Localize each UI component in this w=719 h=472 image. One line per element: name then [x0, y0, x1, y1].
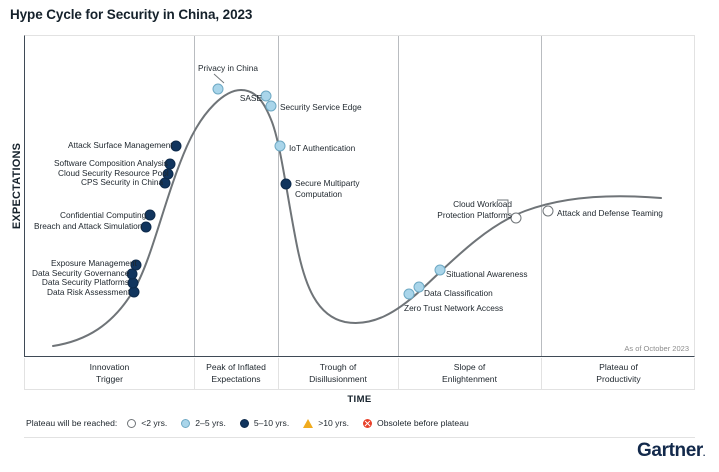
gartner-logo: Gartner. — [637, 440, 705, 462]
light-blue-circle-icon — [181, 419, 190, 428]
open-circle-icon — [127, 419, 136, 428]
data-point-label: Attack and Defense Teaming — [557, 208, 663, 219]
legend-label-5to10: 5–10 yrs. — [254, 418, 289, 428]
dark-blue-circle-icon — [240, 419, 249, 428]
data-point-label: CPS Security in China — [81, 177, 161, 188]
phase-label-line2: Trigger — [25, 374, 194, 386]
phase-label-line1: Plateau of — [541, 362, 696, 374]
phase-label-line2: Productivity — [541, 374, 696, 386]
data-point[interactable] — [213, 84, 224, 95]
phase-label-line1: Peak of Inflated — [194, 362, 278, 374]
phase-label-1: InnovationTrigger — [25, 362, 194, 385]
data-point-label: Confidential Computing — [60, 210, 146, 221]
data-point-label: IoT Authentication — [289, 143, 355, 154]
phase-label-4: Slope ofEnlightenment — [398, 362, 541, 385]
data-point-label: Zero Trust Network Access — [404, 303, 405, 314]
data-point-label: Cloud Workload Protection Platforms — [427, 199, 512, 220]
data-point-label: SASE — [233, 93, 262, 104]
data-point[interactable] — [414, 282, 425, 293]
phase-label-line2: Disillusionment — [278, 374, 398, 386]
phase-label-line1: Slope of — [398, 362, 541, 374]
legend-label-obsolete: Obsolete before plateau — [377, 418, 469, 428]
data-point-label: Data Security Platforms — [36, 277, 129, 288]
data-point-label: Exposure Management — [51, 258, 132, 269]
phase-label-3: Trough ofDisillusionment — [278, 362, 398, 385]
data-point-label: Privacy in China — [198, 63, 258, 74]
data-point-label: Attack Surface Management — [68, 140, 172, 151]
data-point[interactable] — [141, 222, 152, 233]
legend-label-gt10: >10 yrs. — [318, 418, 349, 428]
data-point-label: Cloud Security Resource Pool — [58, 168, 164, 179]
data-point[interactable] — [266, 101, 277, 112]
data-point-label: Software Composition Analysis — [54, 158, 166, 169]
legend-item-obsolete[interactable]: Obsolete before plateau — [363, 418, 469, 428]
footer-divider — [24, 437, 695, 438]
x-axis-label: TIME — [24, 394, 695, 405]
data-point[interactable] — [275, 141, 286, 152]
data-point[interactable] — [281, 179, 292, 190]
phase-label-2: Peak of InflatedExpectations — [194, 362, 278, 385]
data-point-label: Breach and Attack Simulation — [34, 221, 142, 232]
data-point-label: Data Classification — [424, 288, 493, 299]
data-point[interactable] — [404, 289, 415, 300]
phase-label-line1: Trough of — [278, 362, 398, 374]
data-point-label: Situational Awareness — [446, 269, 528, 280]
obsolete-x-icon — [363, 419, 372, 428]
phase-band: InnovationTriggerPeak of InflatedExpecta… — [24, 358, 695, 390]
gartner-wordmark: Gartner — [637, 440, 703, 461]
phase-label-line2: Expectations — [194, 374, 278, 386]
data-point-label: Secure Multiparty Computation — [295, 178, 360, 199]
legend: Plateau will be reached: <2 yrs. 2–5 yrs… — [26, 415, 483, 431]
phase-label-line1: Innovation — [25, 362, 194, 374]
gartner-trademark: . — [703, 448, 705, 458]
legend-label-2to5: 2–5 yrs. — [195, 418, 226, 428]
legend-label-lt2: <2 yrs. — [141, 418, 167, 428]
hype-cycle-chart: Hype Cycle for Security in China, 2023 E… — [0, 0, 719, 472]
page-title: Hype Cycle for Security in China, 2023 — [10, 7, 252, 22]
data-point-label: Data Security Governance — [32, 268, 128, 279]
data-point-label: Security Service Edge — [280, 102, 362, 113]
legend-item-2to5[interactable]: 2–5 yrs. — [181, 418, 226, 428]
legend-item-5to10[interactable]: 5–10 yrs. — [240, 418, 289, 428]
phase-label-5: Plateau ofProductivity — [541, 362, 696, 385]
legend-title: Plateau will be reached: — [26, 418, 117, 428]
hype-cycle-curve — [25, 36, 696, 358]
data-point[interactable] — [145, 210, 156, 221]
legend-item-gt10[interactable]: >10 yrs. — [303, 418, 349, 428]
data-point-label: Data Risk Assessment — [36, 287, 130, 298]
data-point[interactable] — [435, 265, 446, 276]
y-axis-label: EXPECTATIONS — [11, 126, 23, 246]
data-point[interactable] — [543, 206, 554, 217]
orange-triangle-icon — [303, 419, 313, 428]
as-of-date: As of October 2023 — [624, 344, 689, 353]
data-point[interactable] — [511, 213, 522, 224]
legend-item-lt2[interactable]: <2 yrs. — [127, 418, 167, 428]
phase-label-line2: Enlightenment — [398, 374, 541, 386]
